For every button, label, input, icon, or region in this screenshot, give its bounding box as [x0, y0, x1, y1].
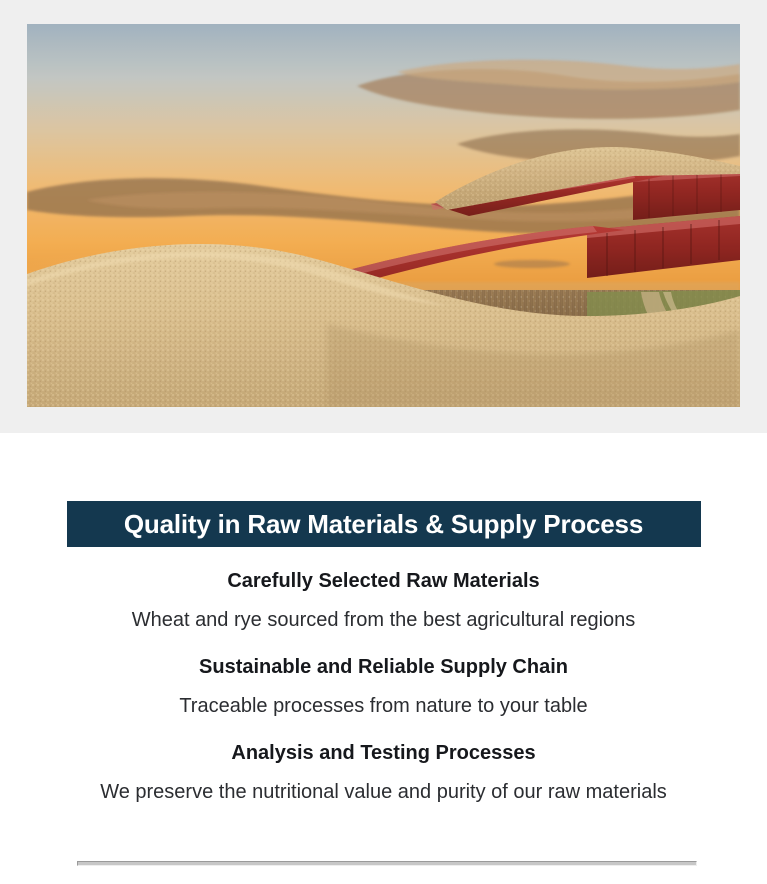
- feature-heading: Analysis and Testing Processes: [0, 741, 767, 766]
- feature-item: Analysis and Testing Processes We preser…: [0, 741, 767, 805]
- hero-figure: [27, 24, 740, 407]
- hero-image-band: [0, 0, 767, 433]
- feature-description: Traceable processes from nature to your …: [0, 694, 767, 719]
- feature-item: Carefully Selected Raw Materials Wheat a…: [0, 569, 767, 633]
- feature-heading: Sustainable and Reliable Supply Chain: [0, 655, 767, 680]
- feature-heading: Carefully Selected Raw Materials: [0, 569, 767, 594]
- content-section: Quality in Raw Materials & Supply Proces…: [0, 501, 767, 805]
- section-divider: [77, 861, 697, 866]
- feature-list: Carefully Selected Raw Materials Wheat a…: [0, 569, 767, 805]
- section-title-banner: Quality in Raw Materials & Supply Proces…: [67, 501, 701, 547]
- feature-description: Wheat and rye sourced from the best agri…: [0, 608, 767, 633]
- section-title-text: Quality in Raw Materials & Supply Proces…: [124, 511, 643, 537]
- feature-description: We preserve the nutritional value and pu…: [0, 780, 767, 805]
- feature-item: Sustainable and Reliable Supply Chain Tr…: [0, 655, 767, 719]
- grain-harvest-sunset-photo: [27, 24, 740, 407]
